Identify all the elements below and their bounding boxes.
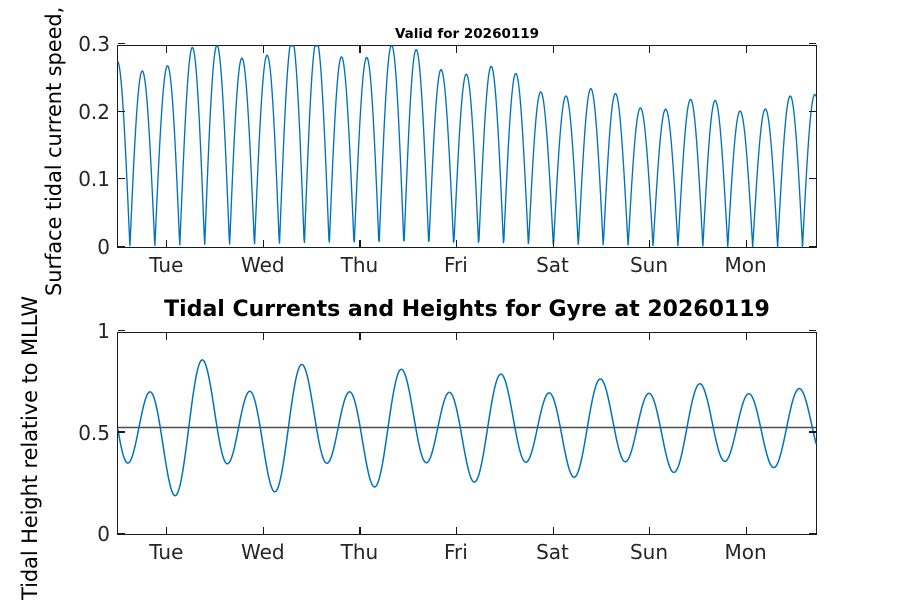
xticklabel-bottom-thu: Thu: [341, 540, 379, 564]
ytick-top-3-r: [809, 43, 816, 44]
ytick-top-2-r: [809, 111, 816, 112]
xticklabel-top-mon: Mon: [725, 253, 767, 277]
xticklabel-top-wed: Wed: [241, 253, 285, 277]
xticklabel-top-tue: Tue: [149, 253, 183, 277]
tidal-height-plot-svg: [118, 333, 816, 534]
top-subplot-title: Valid for 20260119: [117, 26, 817, 42]
figure-main-title: Tidal Currents and Heights for Gyre at 2…: [117, 297, 817, 322]
xtick-bottom-mon: [746, 527, 747, 534]
yticklabel-top-0: 0: [48, 235, 118, 259]
xtick-top-mon: [746, 240, 747, 247]
tidal-height-axes: 0 0.5 1 Tue Wed Thu Fri Sat Sun Mon: [117, 332, 817, 535]
xtick-top-thu: [359, 240, 360, 247]
current-speed-plot-svg: [118, 46, 816, 247]
xticklabel-bottom-sat: Sat: [536, 540, 569, 564]
yticklabel-top-1: 0.1: [48, 167, 118, 191]
yticklabel-bottom-1: 1: [48, 319, 118, 343]
ytick-bottom-1: [118, 330, 125, 331]
ytick-top-0-r: [809, 246, 816, 247]
xtick-top-thu-t: [359, 46, 360, 53]
ytick-top-1: [118, 178, 125, 179]
xtick-bottom-fri: [456, 527, 457, 534]
xticklabel-top-sat: Sat: [536, 253, 569, 277]
xticklabel-top-sun: Sun: [630, 253, 668, 277]
ytick-top-0: [118, 246, 125, 247]
xtick-top-sun-t: [649, 46, 650, 53]
xtick-bottom-tue: [166, 527, 167, 534]
xticklabel-top-fri: Fri: [444, 253, 468, 277]
ytick-bottom-1-r: [809, 330, 816, 331]
ytick-bottom-05-r: [809, 431, 816, 432]
xticklabel-bottom-sun: Sun: [630, 540, 668, 564]
xtick-bottom-wed-t: [263, 333, 264, 340]
bottom-y-axis-label: Tidal Height relative to MLLW: [18, 296, 42, 600]
xtick-top-wed-t: [263, 46, 264, 53]
xtick-top-mon-t: [746, 46, 747, 53]
xtick-bottom-sun: [649, 527, 650, 534]
xtick-bottom-sun-t: [649, 333, 650, 340]
xtick-top-fri-t: [456, 46, 457, 53]
xtick-bottom-fri-t: [456, 333, 457, 340]
xtick-top-sat-t: [553, 46, 554, 53]
xtick-top-wed: [263, 240, 264, 247]
xtick-top-sat: [553, 240, 554, 247]
yticklabel-bottom-0: 0: [48, 522, 118, 546]
ytick-top-1-r: [809, 178, 816, 179]
xtick-top-fri: [456, 240, 457, 247]
ytick-top-2: [118, 111, 125, 112]
ytick-bottom-0-r: [809, 533, 816, 534]
xtick-bottom-tue-t: [166, 333, 167, 340]
xtick-bottom-thu-t: [359, 333, 360, 340]
tidal-figure: Valid for 20260119 Tidal Currents and He…: [0, 0, 900, 600]
ytick-bottom-05: [118, 431, 125, 432]
xtick-bottom-sat-t: [553, 333, 554, 340]
xtick-top-tue: [166, 240, 167, 247]
yticklabel-bottom-05: 0.5: [48, 421, 118, 445]
current-speed-axes: 0 0.1 0.2 0.3 Tue Wed Thu Fri Sat Sun Mo…: [117, 45, 817, 248]
ytick-top-3: [118, 43, 125, 44]
xticklabel-bottom-fri: Fri: [444, 540, 468, 564]
xticklabel-top-thu: Thu: [341, 253, 379, 277]
xtick-bottom-mon-t: [746, 333, 747, 340]
xtick-bottom-thu: [359, 527, 360, 534]
xtick-bottom-wed: [263, 527, 264, 534]
xticklabel-bottom-mon: Mon: [725, 540, 767, 564]
xtick-bottom-sat: [553, 527, 554, 534]
current-speed-line: [118, 46, 816, 247]
yticklabel-top-2: 0.2: [48, 100, 118, 124]
yticklabel-top-3: 0.3: [48, 32, 118, 56]
ytick-bottom-0: [118, 533, 125, 534]
xtick-top-sun: [649, 240, 650, 247]
xtick-top-tue-t: [166, 46, 167, 53]
xticklabel-bottom-tue: Tue: [149, 540, 183, 564]
xticklabel-bottom-wed: Wed: [241, 540, 285, 564]
